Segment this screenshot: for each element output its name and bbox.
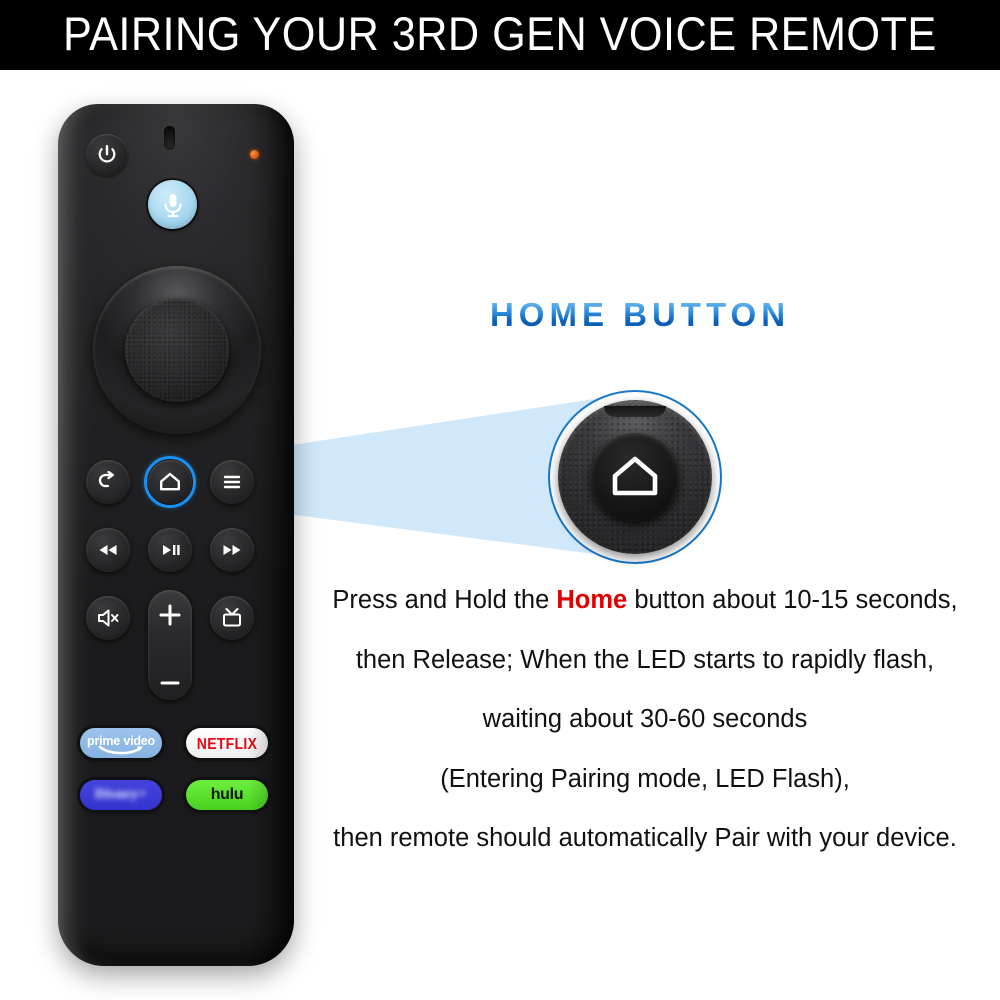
disney-plus-button[interactable]: Disney+: [80, 780, 162, 810]
instruction-line-1-prefix: Press and Hold the: [332, 586, 556, 614]
instruction-line-5: then remote should automatically Pair wi…: [300, 826, 990, 852]
hulu-button[interactable]: hulu: [186, 780, 268, 810]
fast-forward-icon: [220, 543, 244, 557]
netflix-button[interactable]: NETFLIX: [186, 728, 268, 758]
mute-speaker-icon: [95, 607, 121, 629]
led-indicator: [250, 150, 259, 159]
hulu-label: hulu: [211, 787, 244, 803]
magnified-notch: [604, 406, 666, 417]
voice-remote-device: prime video NETFLIX Disney+ hulu: [58, 104, 294, 966]
prime-smile-icon: [98, 745, 144, 755]
mute-button[interactable]: [86, 596, 130, 640]
instruction-line-4: (Entering Pairing mode, LED Flash),: [300, 767, 990, 793]
voice-button[interactable]: [148, 180, 197, 229]
back-arrow-icon: [96, 471, 120, 493]
tv-guide-button[interactable]: [210, 596, 254, 640]
magnified-nav-ring: [558, 400, 712, 554]
power-button[interactable]: [86, 134, 128, 176]
instruction-line-1: Press and Hold the Home button about 10-…: [300, 588, 990, 614]
instruction-line-2: then Release; When the LED starts to rap…: [300, 648, 990, 674]
magnified-home-button: [548, 390, 722, 564]
play-pause-icon: [158, 543, 182, 557]
play-pause-button[interactable]: [148, 528, 192, 572]
rewind-button[interactable]: [86, 528, 130, 572]
power-icon: [95, 143, 119, 167]
page-title-bar: PAIRING YOUR 3RD GEN VOICE REMOTE: [0, 0, 1000, 70]
home-icon: [609, 454, 661, 500]
instructions-block: Press and Hold the Home button about 10-…: [300, 588, 990, 852]
minus-icon[interactable]: [157, 678, 183, 688]
microphone-icon: [160, 190, 186, 220]
back-button[interactable]: [86, 460, 130, 504]
page-root: PAIRING YOUR 3RD GEN VOICE REMOTE: [0, 0, 1000, 1000]
instruction-line-3: waiting about 30-60 seconds: [300, 707, 990, 733]
magnified-home-core: [591, 433, 679, 521]
home-button-highlight-ring: [144, 456, 196, 508]
prime-video-button[interactable]: prime video: [80, 728, 162, 758]
callout-title: HOME BUTTON: [470, 298, 810, 331]
netflix-label: NETFLIX: [197, 735, 257, 751]
rewind-icon: [96, 543, 120, 557]
page-title: PAIRING YOUR 3RD GEN VOICE REMOTE: [63, 10, 937, 60]
plus-icon[interactable]: [157, 602, 183, 628]
select-button[interactable]: [125, 298, 229, 402]
menu-button[interactable]: [210, 460, 254, 504]
instruction-line-1-suffix: button about 10-15 seconds,: [627, 586, 957, 614]
navigation-ring[interactable]: [93, 266, 261, 434]
menu-lines-icon: [220, 473, 244, 491]
disney-plus-label: Disney+: [95, 788, 147, 802]
fast-forward-button[interactable]: [210, 528, 254, 572]
microphone-slot: [164, 126, 175, 150]
volume-rocker[interactable]: [148, 590, 192, 700]
instruction-home-highlight: Home: [556, 586, 627, 614]
tv-icon: [219, 606, 245, 630]
